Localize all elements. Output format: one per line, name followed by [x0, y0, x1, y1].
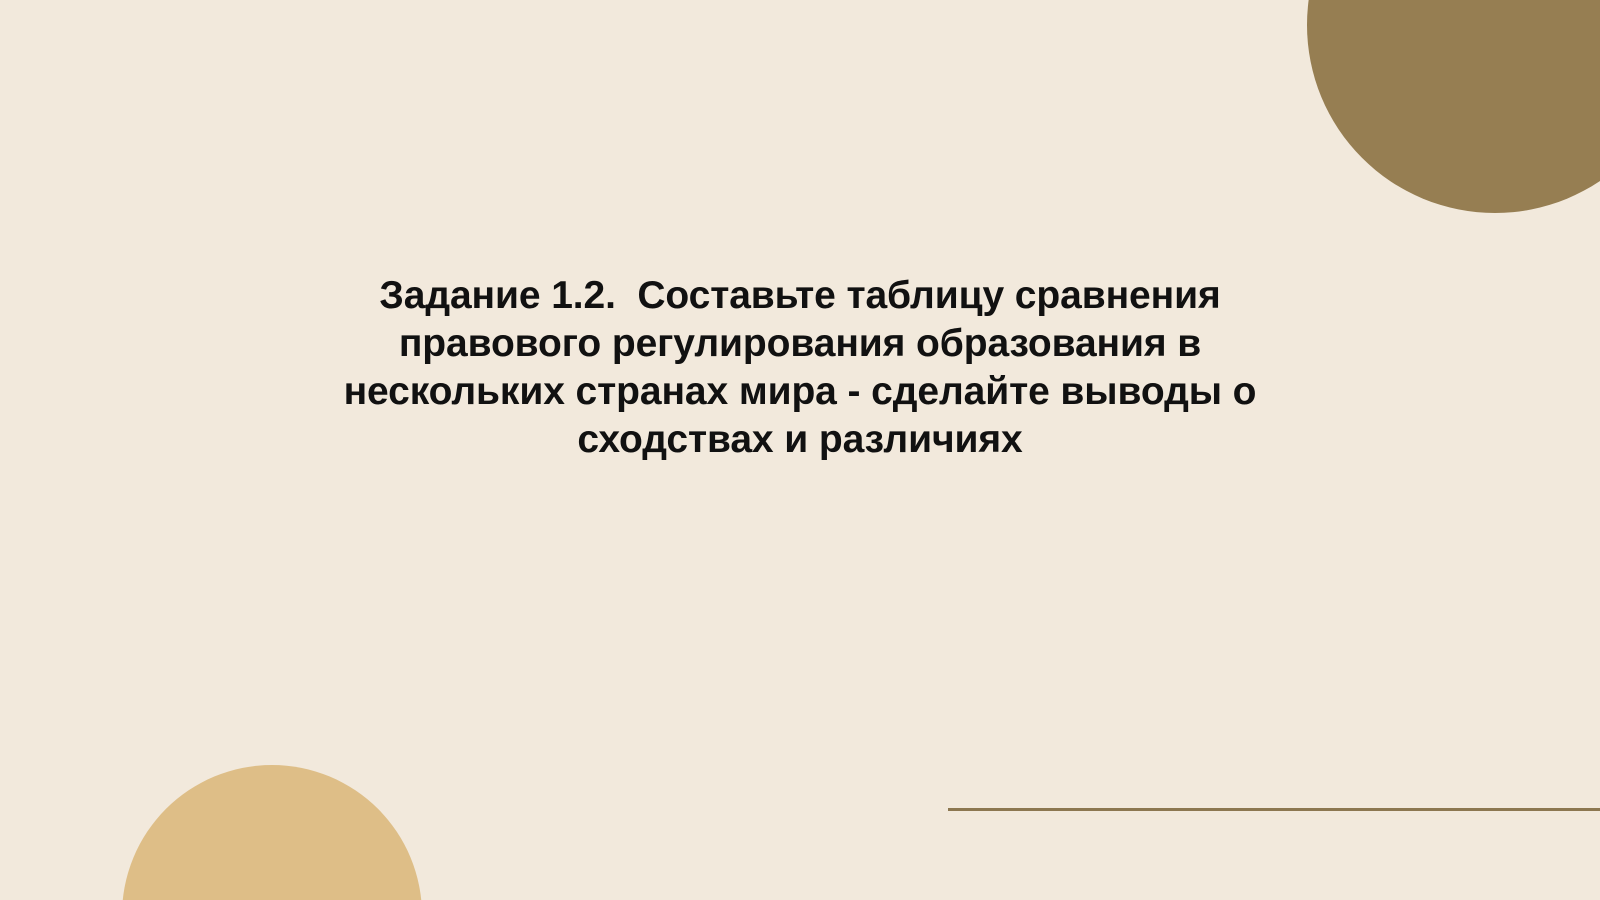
- slide-canvas: Задание 1.2. Составьте таблицу сравнения…: [0, 0, 1600, 900]
- top-right-dark-circle-icon: [1307, 0, 1600, 213]
- bottom-left-tan-circle-icon: [122, 765, 422, 900]
- slide-title: Задание 1.2. Составьте таблицу сравнения…: [300, 272, 1300, 464]
- bottom-right-accent-rule: [948, 808, 1600, 811]
- title-block: Задание 1.2. Составьте таблицу сравнения…: [300, 272, 1300, 464]
